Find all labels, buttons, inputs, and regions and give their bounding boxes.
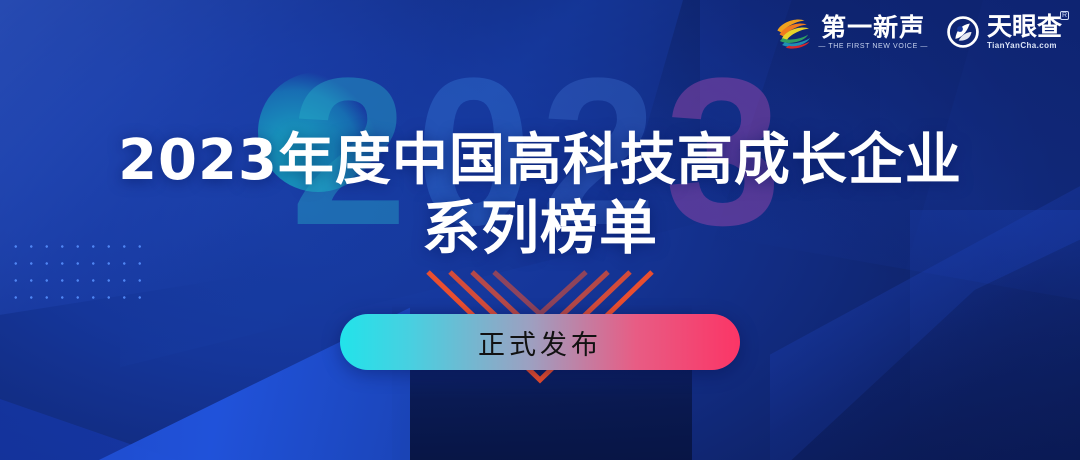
logo-first-new-voice-text: 第一新声 — THE FIRST NEW VOICE —: [818, 15, 928, 50]
colorful-swirl-globe-icon: [775, 14, 811, 50]
logo-bar: 第一新声 — THE FIRST NEW VOICE — 天眼查 TianYan…: [775, 14, 1062, 50]
release-status-pill[interactable]: 正式发布: [340, 314, 740, 370]
logo-first-new-voice-name: 第一新声: [821, 15, 925, 40]
promo-banner: 2023 2023年度中国高科技高成长企业 系列榜单 正式发布: [0, 0, 1080, 460]
bright-triangle-bottom-left: [0, 294, 410, 460]
title-line-1: 2023年度中国高科技高成长企业: [0, 128, 1080, 194]
logo-tianyancha-domain: TianYanCha.com: [987, 41, 1057, 50]
aperture-eye-icon: [946, 15, 980, 49]
logo-tianyancha[interactable]: 天眼查 TianYanCha.com R: [946, 14, 1062, 50]
title-block: 2023年度中国高科技高成长企业 系列榜单: [0, 128, 1080, 263]
logo-first-new-voice-tagline: — THE FIRST NEW VOICE —: [818, 43, 928, 50]
logo-first-new-voice[interactable]: 第一新声 — THE FIRST NEW VOICE —: [775, 14, 928, 50]
registered-trademark-icon: R: [1060, 11, 1069, 20]
title-line-2: 系列榜单: [0, 194, 1080, 262]
facet-right-bottom: [770, 230, 1080, 460]
logo-tianyancha-name: 天眼查: [987, 14, 1062, 39]
release-status-label: 正式发布: [478, 323, 602, 362]
logo-tianyancha-text: 天眼查 TianYanCha.com R: [987, 14, 1062, 50]
facet-bottom-left-shade: [0, 284, 420, 460]
